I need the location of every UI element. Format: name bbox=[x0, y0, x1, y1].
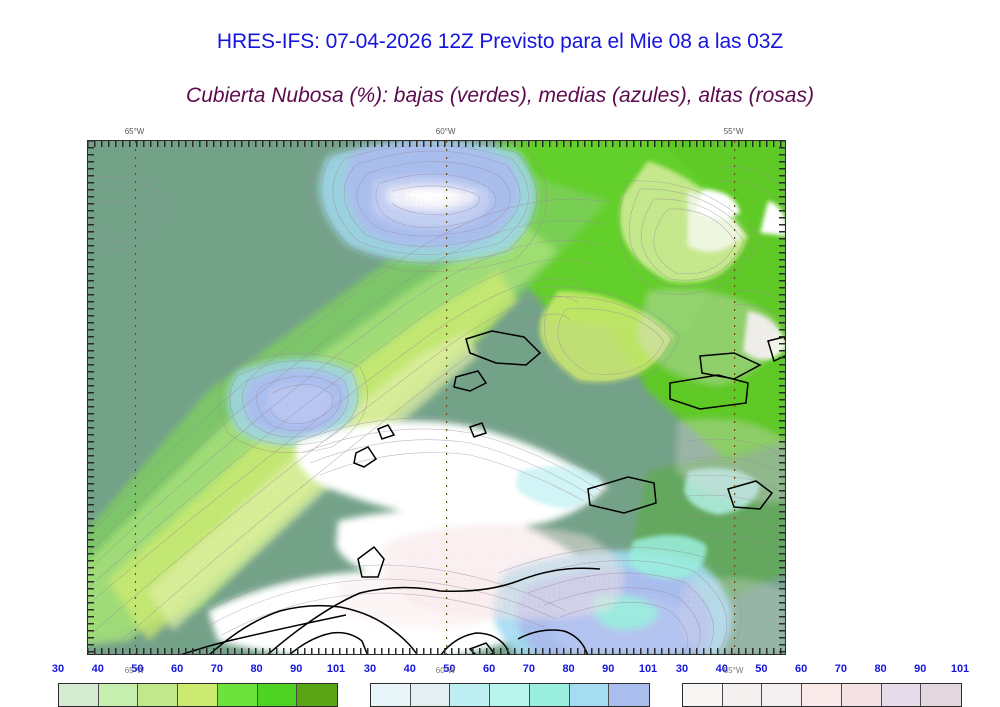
colorbar-tick-label: 80 bbox=[250, 663, 262, 675]
colorbar-swatch bbox=[530, 684, 570, 706]
colorbar-mid-ticks: 30405060708090101 bbox=[357, 663, 657, 677]
colorbar-swatch bbox=[882, 684, 922, 706]
colorbar-tick-label: 60 bbox=[483, 663, 495, 675]
longitude-label-top-60w: 60°W bbox=[436, 127, 456, 136]
colorbar-tick-label: 50 bbox=[755, 663, 767, 675]
colorbar-swatch bbox=[99, 684, 139, 706]
colorbar-swatch bbox=[842, 684, 882, 706]
colorbar-mid-clouds[interactable]: 30405060708090101 bbox=[357, 663, 657, 677]
colorbar-tick-label: 80 bbox=[562, 663, 574, 675]
colorbar-swatch bbox=[570, 684, 610, 706]
colorbar-tick-label: 90 bbox=[914, 663, 926, 675]
colorbar-tick-label: 30 bbox=[676, 663, 688, 675]
longitude-label-top-65w: 65°W bbox=[125, 127, 145, 136]
colorbar-tick-label: 70 bbox=[523, 663, 535, 675]
colorbar-tick-label: 70 bbox=[835, 663, 847, 675]
colorbar-high-ticks: 30405060708090101 bbox=[669, 663, 969, 677]
colorbar-tick-label: 40 bbox=[92, 663, 104, 675]
colorbar-swatch bbox=[762, 684, 802, 706]
map-fields bbox=[88, 141, 786, 655]
colorbar-high-strip[interactable] bbox=[682, 683, 962, 707]
colorbar-tick-label: 60 bbox=[795, 663, 807, 675]
colorbar-high-clouds[interactable]: 30405060708090101 bbox=[669, 663, 969, 677]
colorbar-swatch bbox=[490, 684, 530, 706]
colorbar-low-ticks: 30405060708090101 bbox=[45, 663, 345, 677]
colorbar-tick-label: 40 bbox=[404, 663, 416, 675]
colorbar-swatch bbox=[609, 684, 649, 706]
colorbar-swatch bbox=[802, 684, 842, 706]
colorbar-swatch bbox=[218, 684, 258, 706]
cloud-cover-map[interactable] bbox=[87, 140, 786, 655]
map-canvas bbox=[88, 141, 786, 655]
colorbar-swatch bbox=[178, 684, 218, 706]
colorbar-swatch bbox=[59, 684, 99, 706]
colorbar-swatch bbox=[411, 684, 451, 706]
colorbar-swatch bbox=[683, 684, 723, 706]
longitude-label-bottom-65w: 65°W bbox=[125, 666, 145, 675]
colorbar-tick-label: 101 bbox=[327, 663, 345, 675]
longitude-label-bottom-55w: 55°W bbox=[724, 666, 744, 675]
colorbar-swatch bbox=[723, 684, 763, 706]
page-subtitle: Cubierta Nubosa (%): bajas (verdes), med… bbox=[0, 84, 1000, 108]
colorbar-tick-label: 30 bbox=[364, 663, 376, 675]
longitude-label-bottom-60w: 60°W bbox=[436, 666, 456, 675]
colorbar-swatch bbox=[371, 684, 411, 706]
colorbar-swatch bbox=[921, 684, 961, 706]
colorbar-low-clouds[interactable]: 30405060708090101 bbox=[45, 663, 345, 677]
colorbar-tick-label: 90 bbox=[602, 663, 614, 675]
colorbar-tick-label: 80 bbox=[874, 663, 886, 675]
page-title: HRES-IFS: 07-04-2026 12Z Previsto para e… bbox=[0, 30, 1000, 54]
colorbar-tick-label: 60 bbox=[171, 663, 183, 675]
colorbar-mid-strip[interactable] bbox=[370, 683, 650, 707]
colorbar-swatch bbox=[138, 684, 178, 706]
colorbar-tick-label: 30 bbox=[52, 663, 64, 675]
longitude-label-top-55w: 55°W bbox=[724, 127, 744, 136]
colorbar-tick-label: 70 bbox=[211, 663, 223, 675]
colorbar-tick-label: 90 bbox=[290, 663, 302, 675]
colorbar-tick-label: 101 bbox=[639, 663, 657, 675]
colorbar-swatch bbox=[258, 684, 298, 706]
colorbar-tick-label: 101 bbox=[951, 663, 969, 675]
colorbar-swatch bbox=[297, 684, 337, 706]
colorbar-swatch bbox=[450, 684, 490, 706]
colorbar-low-strip[interactable] bbox=[58, 683, 338, 707]
